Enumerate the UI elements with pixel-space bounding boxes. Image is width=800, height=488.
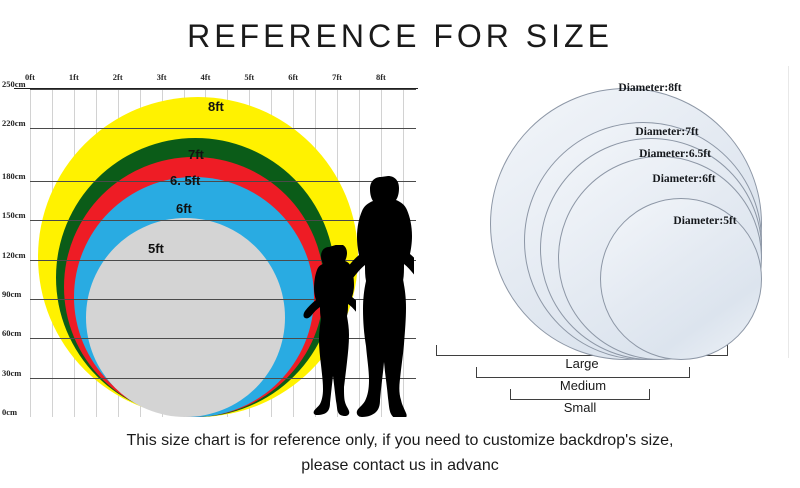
page-title: REFERENCE FOR SIZE <box>0 18 800 55</box>
y-tick-label: 30cm <box>2 368 21 378</box>
size-reference-chart: REFERENCE FOR SIZE 0ft1ft2ft3ft4ft5ft6ft… <box>0 0 800 488</box>
ring-label-5ft: 5ft <box>148 241 164 256</box>
adult-woman-silhouette <box>348 175 414 417</box>
disc-label-2: Diameter:7ft <box>635 126 698 138</box>
caption-line-2: please contact us in advanc <box>0 453 800 478</box>
x-tick-label: 6ft <box>288 72 298 82</box>
horizontal-gridline <box>30 89 416 90</box>
y-tick-label: 90cm <box>2 289 21 299</box>
x-tick-label: 8ft <box>376 72 386 82</box>
caption: This size chart is for reference only, i… <box>0 428 800 478</box>
vertical-gridline <box>30 89 31 417</box>
caption-line-1: This size chart is for reference only, i… <box>0 428 800 453</box>
bracket-label-small: Small <box>564 400 597 415</box>
x-tick-label: 5ft <box>244 72 254 82</box>
y-tick-label: 60cm <box>2 328 21 338</box>
left-scale-chart: 0ft1ft2ft3ft4ft5ft6ft7ft8ft 8ft7ft6. 5ft… <box>0 72 430 427</box>
disc-diagram: Diameter:8ftDiameter:7ftDiameter:6.5ftDi… <box>432 60 792 360</box>
ring-label-6.5ft: 6. 5ft <box>170 173 200 188</box>
y-tick-label: 150cm <box>2 210 26 220</box>
plot-area: 8ft7ft6. 5ft6ft5ft <box>30 89 416 417</box>
ring-label-8ft: 8ft <box>208 99 224 114</box>
disc-label-5: Diameter:5ft <box>673 215 736 227</box>
ring-label-6ft: 6ft <box>176 201 192 216</box>
y-tick-label: 0cm <box>2 407 17 417</box>
y-tick-label: 220cm <box>2 118 26 128</box>
disc-label-4: Diameter:6ft <box>652 173 715 185</box>
bracket-small <box>510 389 650 400</box>
x-tick-label: 2ft <box>113 72 123 82</box>
ring-label-7ft: 7ft <box>188 147 204 162</box>
bracket-medium <box>476 367 690 378</box>
right-edge-divider <box>788 66 789 358</box>
y-tick-label: 180cm <box>2 171 26 181</box>
y-tick-label: 250cm <box>2 79 26 89</box>
horizontal-gridline <box>30 128 416 129</box>
ring-5ft <box>86 218 285 417</box>
x-tick-label: 4ft <box>200 72 210 82</box>
y-tick-label: 120cm <box>2 250 26 260</box>
x-tick-label: 1ft <box>69 72 79 82</box>
disc-label-3: Diameter:6.5ft <box>639 148 711 160</box>
x-tick-label: 0ft <box>25 72 35 82</box>
x-tick-label: 7ft <box>332 72 342 82</box>
disc-label-1: Diameter:8ft <box>618 82 681 94</box>
x-tick-label: 3ft <box>157 72 167 82</box>
